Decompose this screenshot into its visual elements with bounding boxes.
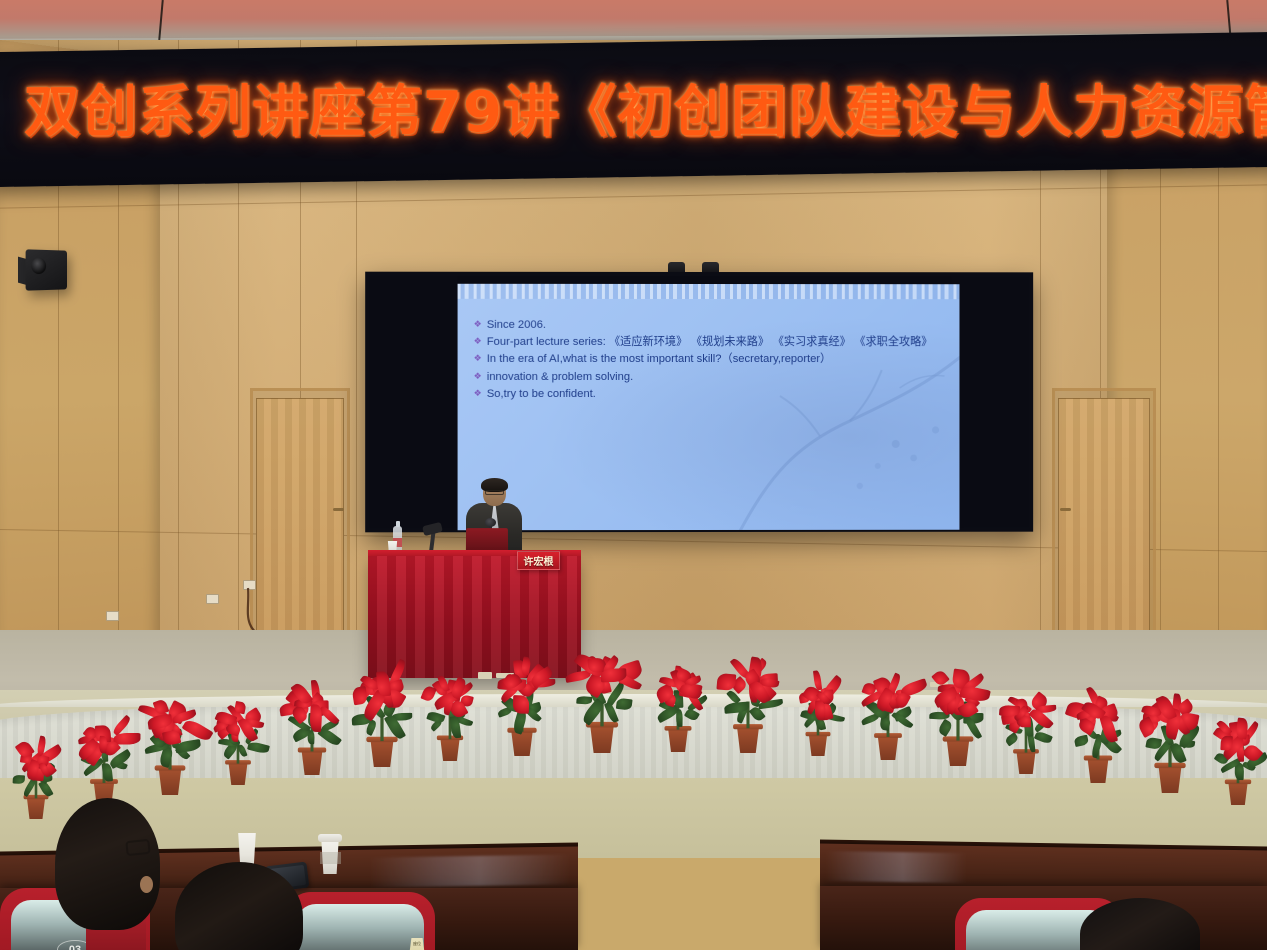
desk-reflection	[826, 851, 966, 883]
power-outlet[interactable]	[206, 594, 219, 604]
flower-pot	[368, 740, 396, 767]
plant-leaf	[616, 698, 633, 711]
poinsettia-bloom	[420, 685, 436, 703]
bullet-diamond-icon: ❖	[474, 334, 482, 350]
bullet-diamond-icon: ❖	[474, 351, 482, 367]
poinsettia-plant	[705, 642, 792, 753]
audience-member-ear	[140, 876, 153, 893]
slide-bullet-list: ❖Since 2006.❖Four-part lecture series: 《…	[474, 317, 950, 403]
led-banner-inner: 双创系列讲座第79讲《初创团队建设与人力资源管理风险管控要	[0, 42, 1267, 177]
plant-leaf	[1074, 734, 1089, 746]
poinsettia-bloom	[513, 695, 530, 714]
flower-pot	[438, 738, 462, 761]
name-placard-text: 许宏根	[524, 553, 554, 568]
poinsettia-bloom	[1220, 735, 1233, 750]
flower-pot	[1085, 758, 1110, 783]
flower-pot	[807, 734, 829, 756]
screen-letterbox-right	[952, 276, 1030, 528]
door-left[interactable]	[256, 398, 344, 642]
poinsettia-bloom	[99, 736, 108, 754]
flower-pot	[1226, 782, 1250, 805]
flower-pot	[876, 736, 901, 760]
flower-pot	[735, 727, 762, 753]
slide-bullet-item: ❖innovation & problem solving.	[474, 369, 950, 385]
flower-pot	[226, 762, 249, 784]
poinsettia-bloom	[352, 686, 369, 705]
slide-bullet-item: ❖Since 2006.	[474, 317, 950, 334]
poinsettia-plant	[0, 726, 72, 819]
slide-bullet-item: ❖Four-part lecture series: 《适应新环境》 《规划未来…	[474, 334, 950, 350]
presenter-glasses-icon	[485, 490, 504, 495]
slide-bullet-text: So,try to be confident.	[487, 386, 950, 402]
slide-bullet-text: Since 2006.	[487, 317, 950, 333]
poinsettia-plant	[201, 689, 276, 785]
audience-member-head	[55, 798, 160, 930]
flower-pot	[588, 725, 617, 753]
slide-bullet-item: ❖So,try to be confident.	[474, 386, 950, 402]
wall-speaker-icon	[26, 249, 67, 290]
screen-letterbox-left	[369, 276, 457, 529]
plant-leaf	[1034, 730, 1053, 745]
poinsettia-bloom	[999, 704, 1020, 716]
plant-leaf	[426, 710, 445, 724]
bullet-diamond-icon: ❖	[474, 386, 482, 402]
slide-bullet-text: Four-part lecture series: 《适应新环境》 《规划未来路…	[487, 334, 950, 350]
plant-leaf	[247, 740, 270, 754]
bullet-diamond-icon: ❖	[474, 369, 482, 385]
flower-pot	[1014, 751, 1037, 773]
flower-pot	[156, 768, 184, 795]
audience-member-glasses-icon	[125, 839, 150, 856]
auditorium-seat[interactable]: 座位	[285, 892, 435, 950]
coffee-cup-lid	[318, 834, 342, 842]
flower-pot	[509, 731, 535, 756]
plant-leaf	[937, 719, 954, 737]
plant-leaf	[13, 775, 25, 784]
led-banner: 双创系列讲座第79讲《初创团队建设与人力资源管理风险管控要	[0, 32, 1267, 187]
door-handle-left[interactable]	[333, 508, 344, 511]
seat-cushion	[296, 904, 424, 950]
slide-bullet-text: innovation & problem solving.	[487, 369, 950, 385]
coffee-cup-sleeve	[320, 852, 341, 864]
flower-pot	[944, 740, 972, 767]
flower-pot	[666, 729, 690, 752]
led-banner-text: 双创系列讲座第79讲《初创团队建设与人力资源管理风险管控要	[24, 67, 1267, 148]
poinsettia-plant	[412, 663, 488, 761]
poinsettia-plant	[555, 633, 648, 753]
lecture-hall-photo: 双创系列讲座第79讲《初创团队建设与人力资源管理风险管控要 ❖Since 200…	[0, 0, 1267, 950]
poinsettia-plant	[782, 663, 854, 756]
name-placard: 许宏根	[517, 551, 560, 570]
slide-decorative-border	[458, 284, 960, 299]
door-handle-right[interactable]	[1060, 508, 1071, 511]
microphone-icon	[485, 518, 496, 527]
presentation-slide: ❖Since 2006.❖Four-part lecture series: 《…	[458, 284, 960, 530]
door-right[interactable]	[1058, 398, 1150, 644]
flower-pot	[1156, 766, 1184, 793]
poinsettia-plant	[480, 647, 565, 756]
desk-reflection	[370, 854, 570, 887]
slide-bullet-item: ❖In the era of AI,what is the most impor…	[474, 351, 950, 367]
poinsettia-plant	[989, 677, 1064, 773]
bullet-diamond-icon: ❖	[474, 317, 482, 333]
power-outlet[interactable]	[243, 580, 256, 590]
plant-leaf	[576, 696, 592, 705]
slide-bullet-text: In the era of AI,what is the most import…	[487, 351, 950, 367]
poinsettia-plant	[1200, 707, 1267, 805]
power-outlet[interactable]	[106, 611, 119, 621]
poinsettia-bloom	[814, 700, 825, 720]
flower-pot	[25, 798, 47, 820]
poinsettia-bloom	[309, 704, 322, 732]
flower-pot	[299, 750, 324, 775]
